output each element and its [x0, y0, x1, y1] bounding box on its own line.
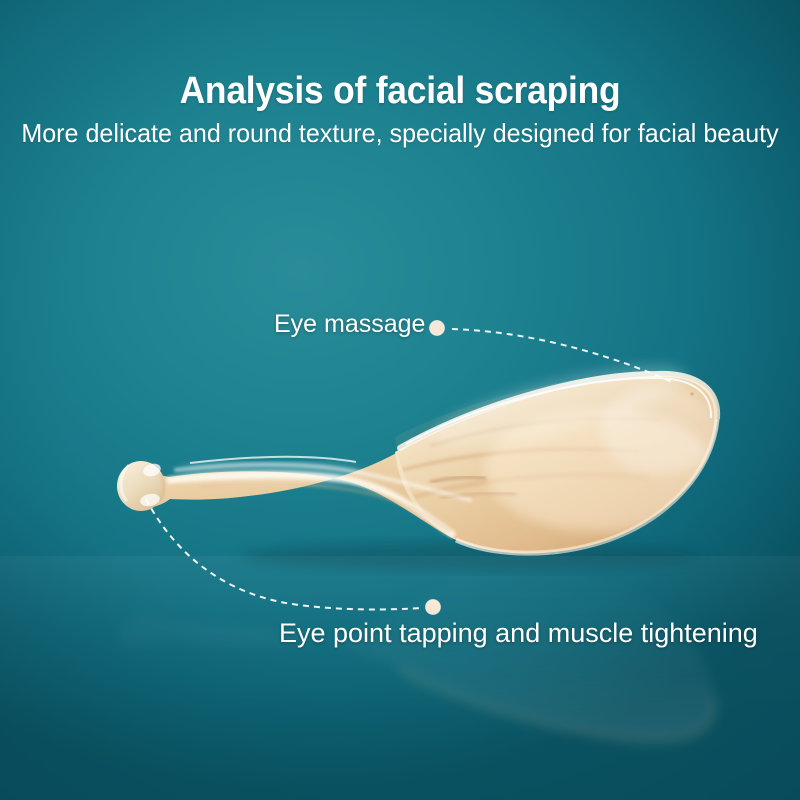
- handle-thin-highlight: [190, 457, 356, 463]
- callout-label-eye-massage: Eye massage: [274, 310, 425, 339]
- page-subtitle: More delicate and round texture, special…: [14, 118, 786, 149]
- callout-dot-eye-massage[interactable]: [430, 321, 445, 336]
- callout-label-eye-point: Eye point tapping and muscle tightening: [279, 618, 758, 649]
- infographic-canvas: Analysis of facial scraping More delicat…: [0, 0, 800, 800]
- page-title: Analysis of facial scraping: [28, 70, 772, 113]
- surface-speck: [690, 392, 693, 395]
- product-reflection: [119, 565, 714, 741]
- callout-dot-eye-point[interactable]: [426, 600, 441, 615]
- handle-gloss: [180, 465, 360, 483]
